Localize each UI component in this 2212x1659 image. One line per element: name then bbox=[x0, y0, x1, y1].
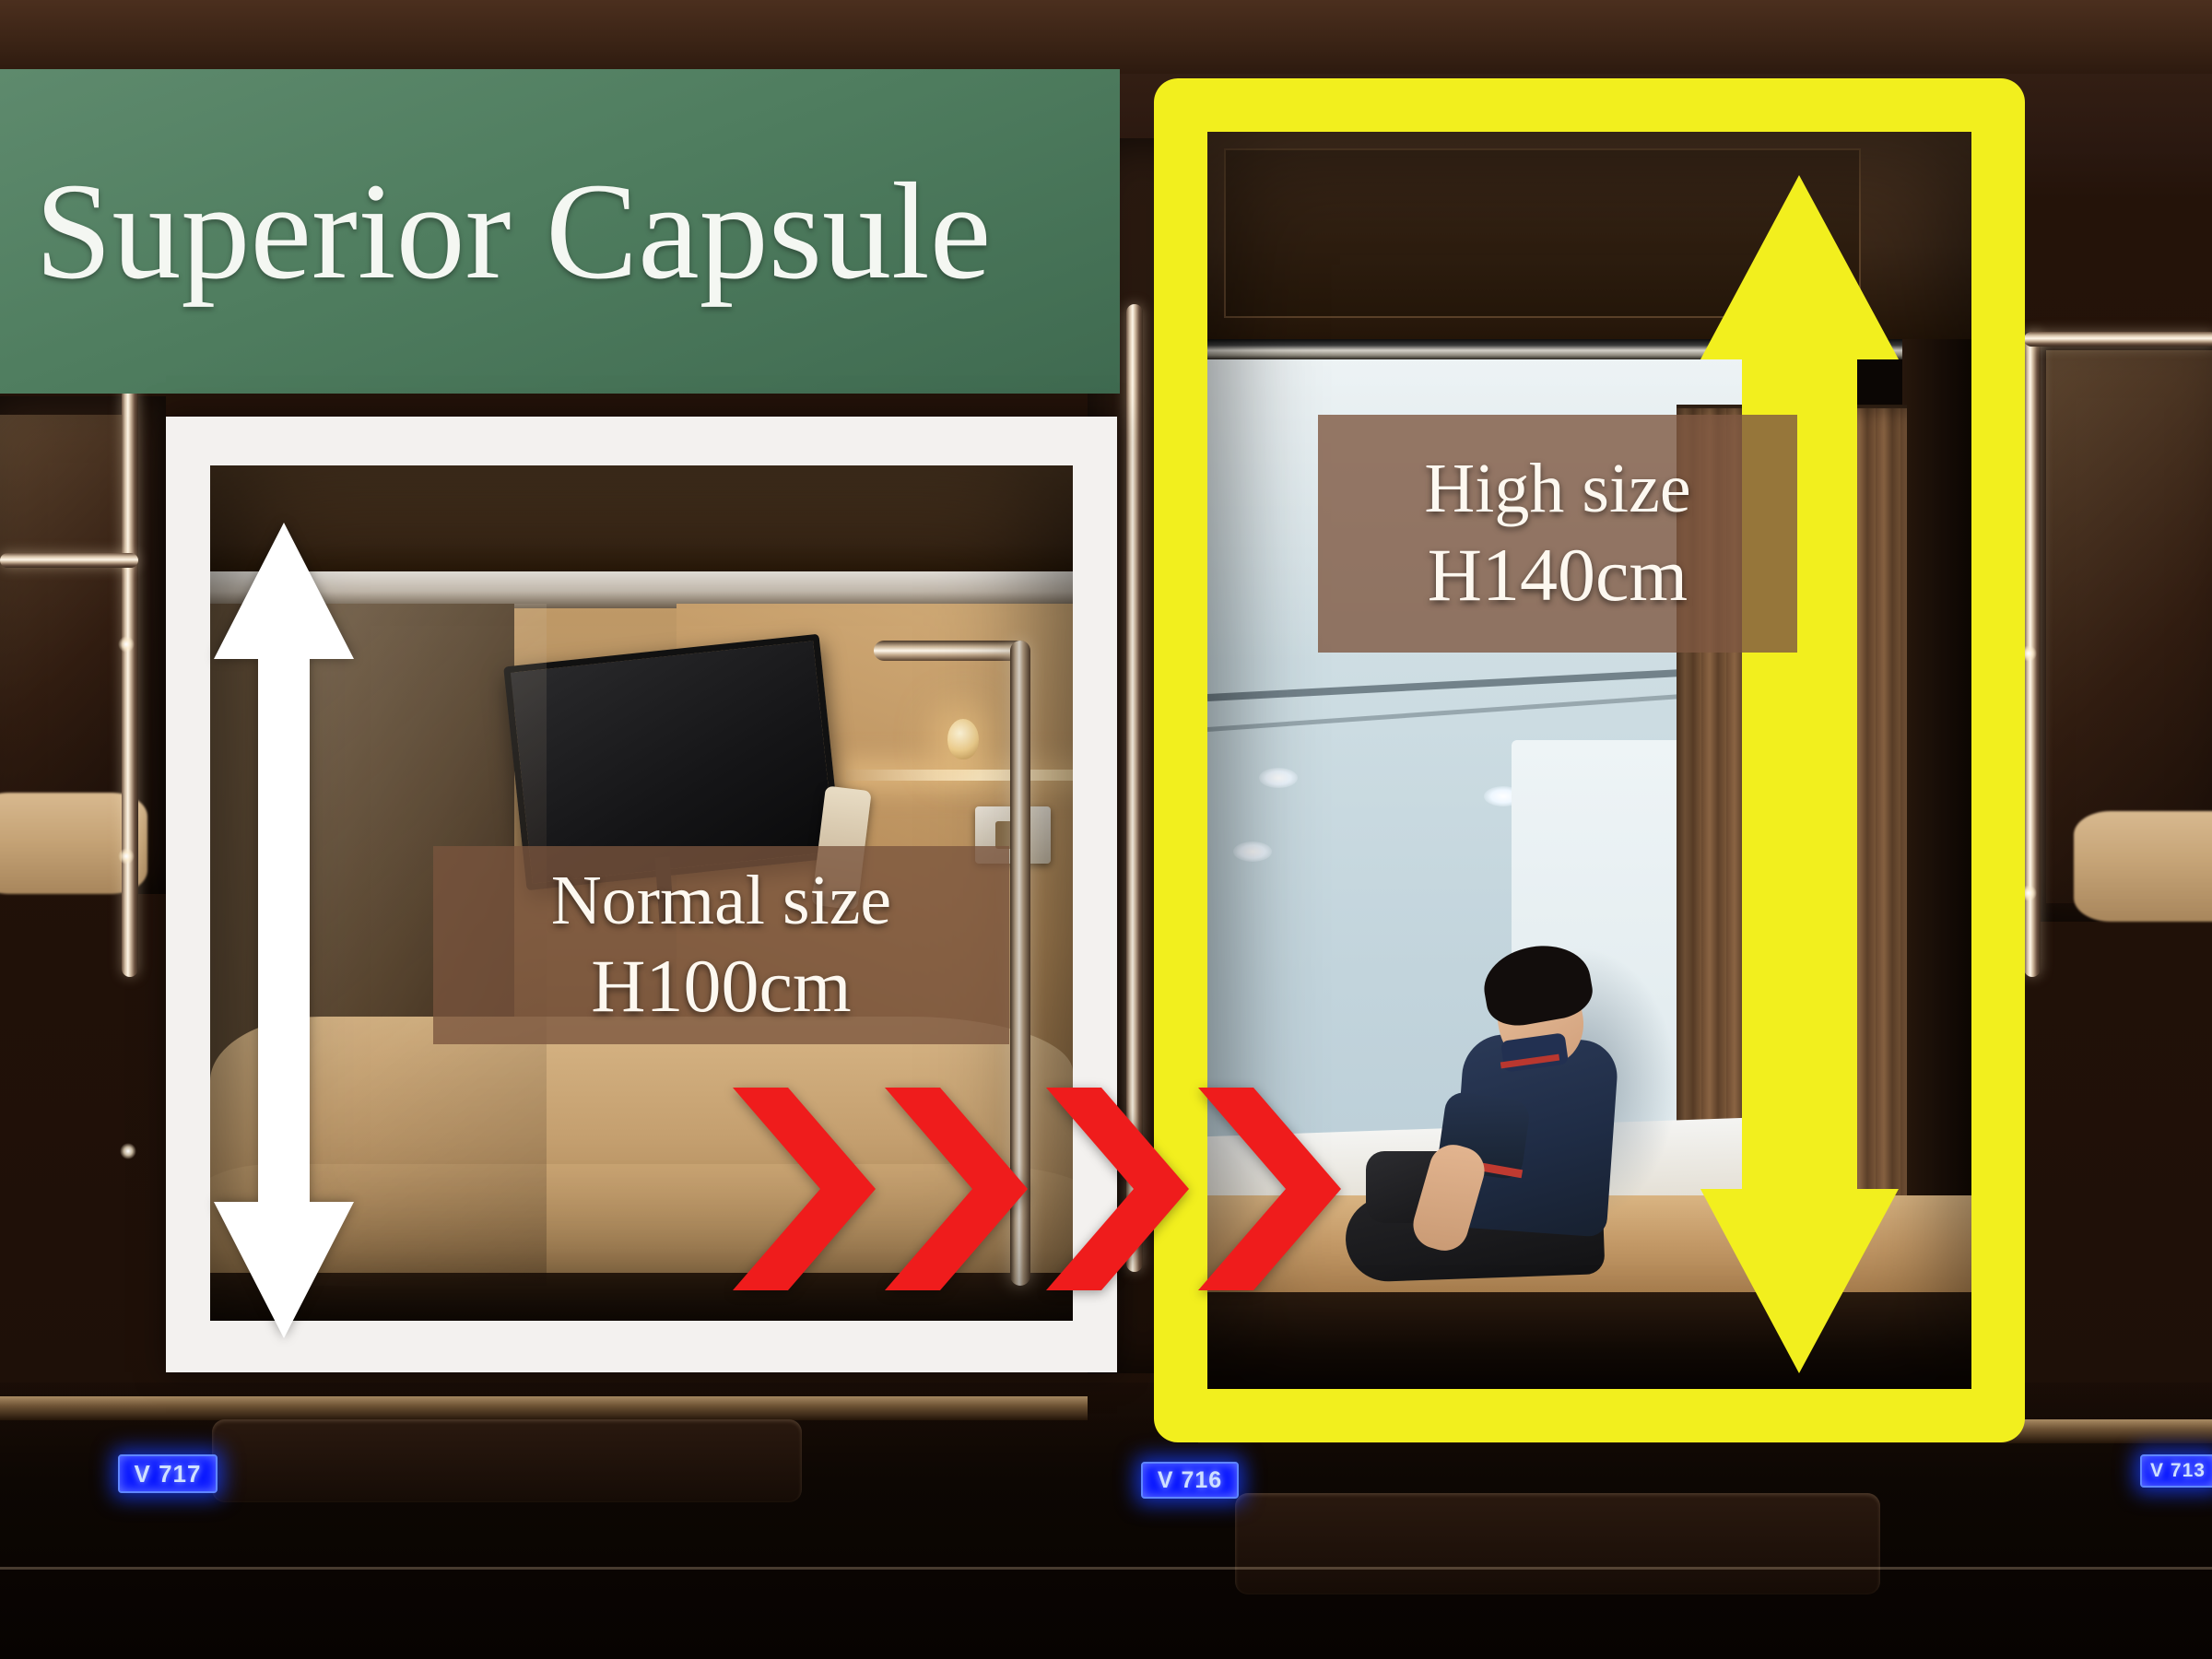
chrome-rail-left-top bbox=[0, 553, 138, 568]
floor-highlight bbox=[0, 1567, 2212, 1570]
normal-height-arrow-icon bbox=[214, 523, 354, 1338]
transition-chevrons-icon bbox=[733, 1088, 1350, 1290]
capsule-number-713-label: V 713 bbox=[2150, 1460, 2206, 1481]
sparkle bbox=[118, 636, 135, 653]
corridor-sill-left bbox=[0, 1396, 1088, 1420]
capsule-number-717-label: V 717 bbox=[135, 1460, 202, 1488]
normal-size-caption: Normal size H100cm bbox=[433, 846, 1009, 1044]
page-title: Superior Capsule bbox=[0, 162, 991, 300]
lower-capsule-door-left bbox=[212, 1419, 802, 1502]
promo-image: V 717 V 716 V 713 Superior Capsule bbox=[0, 0, 2212, 1659]
chrome-rail-left bbox=[122, 387, 138, 977]
chrome-rail-right-top bbox=[2024, 332, 2212, 347]
high-size-caption: High size H140cm bbox=[1318, 415, 1797, 653]
ceiling-band bbox=[0, 0, 2212, 74]
high-caption-line2: H140cm bbox=[1428, 535, 1688, 615]
capsule-number-716: V 716 bbox=[1141, 1462, 1239, 1499]
sparkle bbox=[118, 848, 135, 865]
high-caption-line1: High size bbox=[1424, 453, 1690, 526]
title-banner: Superior Capsule bbox=[0, 69, 1120, 394]
capsule-number-713: V 713 bbox=[2140, 1454, 2212, 1488]
lower-capsule-door-right bbox=[1235, 1493, 1880, 1594]
pillow-right bbox=[2074, 811, 2212, 922]
high-height-arrow-icon bbox=[1700, 175, 1899, 1373]
capsule-number-717: V 717 bbox=[118, 1454, 218, 1493]
normal-caption-line2: H100cm bbox=[591, 947, 851, 1026]
sparkle bbox=[120, 1143, 136, 1159]
capsule-number-716-label: V 716 bbox=[1158, 1467, 1222, 1493]
normal-caption-line1: Normal size bbox=[551, 865, 891, 938]
